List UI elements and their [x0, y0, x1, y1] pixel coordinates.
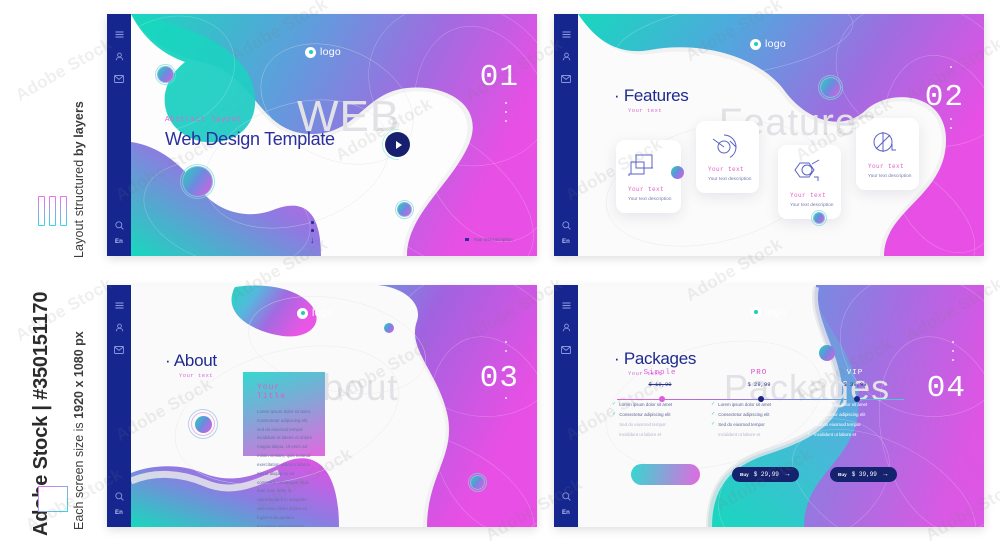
arrow-right-icon: → [682, 471, 689, 478]
hero-kicker: Abstract layout [165, 116, 335, 124]
logo[interactable]: logo [305, 46, 341, 58]
plan-pro: PRO $ 29,99 ✓Lorem ipsum dolor sit amet … [711, 369, 807, 442]
slide-number-dots-3 [505, 341, 507, 352]
check-icon: ✓ [807, 432, 811, 437]
logo-label: logo [765, 38, 786, 50]
section-header-features: · Features Your text [614, 86, 689, 114]
screen-4-packages: Packages En logo 04 · Packages Your text [554, 285, 984, 527]
gradient-ball [397, 202, 412, 217]
check-icon: ✓ [612, 402, 616, 407]
language-toggle[interactable]: En [115, 510, 123, 516]
buy-label: Buy [642, 472, 651, 477]
check-icon: ✓ [807, 412, 811, 417]
menu-icon[interactable] [562, 31, 571, 38]
screen-2-features: Features En logo 02 · Features Your text [554, 14, 984, 256]
feature-card[interactable]: Your text Your text description [856, 118, 919, 190]
plan-feature: ✓Lorem ipsum dolor sit amet [612, 402, 708, 407]
plan-simple: Simple $ 19,99 ✓Lorem ipsum dolor sit am… [612, 369, 708, 442]
menu-icon[interactable] [115, 31, 124, 38]
plan-feature-list: ✓Lorem ipsum dolor sit amet ✓Consectetur… [807, 402, 903, 437]
learn-more-label[interactable]: Learn more [419, 141, 454, 148]
language-toggle[interactable]: En [562, 239, 570, 245]
buy-label: Buy [740, 472, 749, 477]
mail-icon[interactable] [114, 346, 124, 354]
gradient-ball [819, 345, 835, 361]
slide-number-dots-4 [952, 341, 954, 361]
slide-number-dots-2 [950, 66, 952, 68]
buy-label: Buy [838, 472, 847, 477]
plan-feature: ✓Incididunt ut labore et [807, 432, 903, 437]
circle-split-icon [870, 130, 900, 163]
poster-stage: Layout structured by layers Adobe Stock … [0, 0, 1000, 544]
plan-knob-simple[interactable] [659, 396, 665, 402]
logo[interactable]: logo [297, 307, 333, 319]
buy-price: $ 9,99 [656, 471, 678, 478]
user-icon[interactable] [562, 52, 571, 61]
section-title: · About [165, 351, 217, 371]
arrow-right-icon: → [784, 471, 791, 478]
plan-feature: ✓Incididunt ut labore et [711, 432, 807, 437]
language-toggle[interactable]: En [562, 510, 570, 516]
check-icon: ✓ [807, 402, 811, 407]
plan-feature: ✓Sed do eiusmod tempor [711, 422, 807, 427]
plan-feature-list: ✓Lorem ipsum dolor sit amet ✓Consectetur… [612, 402, 708, 437]
search-icon[interactable] [115, 221, 124, 230]
screen-size-note: Each screen size is 1920 x 1080 px [72, 331, 86, 530]
slide-number-dots-1 [505, 102, 507, 122]
section-title: · Packages [614, 349, 696, 369]
plan-name: VIP [807, 369, 903, 377]
buy-button-vip[interactable]: Buy $ 39,99 → [830, 467, 897, 482]
play-icon[interactable] [385, 132, 410, 157]
screen-3-about: About En logo 03 · About Your text [107, 285, 537, 527]
feature-card-title: Your text [790, 192, 826, 199]
inscription-1: Your text inscription [465, 237, 513, 242]
screen-4-content: logo 04 · Packages Your text Simple $ 19… [554, 285, 984, 527]
learn-more-row[interactable]: Learn more [385, 132, 454, 157]
screen-2-content: logo 02 · Features Your text Your text Y… [554, 14, 984, 256]
feature-card[interactable]: Your text Your text description [778, 145, 841, 219]
logo[interactable]: logo [750, 306, 786, 318]
screen-3-content: logo 03 · About Your text Your Title Lor… [107, 285, 537, 527]
plan-name: Simple [612, 369, 708, 377]
mock-sidebar-2[interactable]: En [554, 14, 578, 256]
logo-label: logo [312, 307, 333, 319]
user-icon[interactable] [562, 323, 571, 332]
slide-number-dots-3b [505, 397, 507, 399]
info-rail: Layout structured by layers Adobe Stock … [0, 0, 104, 544]
search-icon[interactable] [562, 221, 571, 230]
logo-mark-icon [305, 47, 316, 58]
gradient-ball [157, 66, 174, 83]
slide-number-2: 02 [925, 82, 964, 113]
slide-number-4: 04 [927, 373, 966, 404]
plan-price: $ 19,99 [612, 381, 708, 388]
feature-card-desc: Your text description [628, 196, 672, 201]
about-box-body: Lorem ipsum dolor sit amet, consectetur … [257, 408, 314, 527]
menu-icon[interactable] [115, 302, 124, 309]
feature-card[interactable]: Your text Your text description [616, 140, 681, 213]
frame-icon [38, 486, 68, 512]
arrow-right-icon: → [882, 471, 889, 478]
mock-sidebar-4[interactable]: En [554, 285, 578, 527]
user-icon[interactable] [115, 52, 124, 61]
logo-label: logo [765, 306, 786, 318]
plan-price: $ 29,99 [711, 381, 807, 388]
buy-price: $ 39,99 [852, 471, 877, 478]
slide-number-dots-2b [950, 118, 952, 129]
plan-feature: ✓Consectetur adipiscing elit [711, 412, 807, 417]
language-toggle[interactable]: En [115, 239, 123, 245]
plan-feature: ✓Lorem ipsum dolor sit amet [807, 402, 903, 407]
mail-icon[interactable] [114, 75, 124, 83]
mock-sidebar-3[interactable]: En [107, 285, 131, 527]
gradient-ball [384, 323, 394, 333]
gradient-ball [820, 77, 841, 98]
feature-card-desc: Your text description [790, 202, 834, 207]
buy-price: $ 29,99 [754, 471, 779, 478]
plan-name: PRO [711, 369, 807, 377]
hexagon-icon [790, 157, 824, 190]
gradient-ball [182, 166, 213, 197]
user-icon[interactable] [115, 323, 124, 332]
plan-vip: VIP $ 39,99 ✓Lorem ipsum dolor sit amet … [807, 369, 903, 442]
plan-feature: ✓Consectetur adipiscing elit [612, 412, 708, 417]
plan-price: $ 39,99 [807, 381, 903, 388]
inscription-label: Your text inscription [474, 237, 513, 242]
gradient-ball [195, 416, 212, 433]
feature-card-title: Your text [708, 166, 744, 173]
plan-feature: ✓Incididunt ut labore et [612, 432, 708, 437]
screen-1-content: logo 01 Abstract layout Web Design Templ… [107, 14, 537, 256]
inscription-bullet-icon [465, 238, 469, 242]
feature-card-desc: Your text description [868, 173, 912, 178]
section-subtitle: Your text [628, 107, 689, 114]
windows-layers-icon [628, 154, 656, 185]
layers-note: Layout structured by layers [72, 101, 86, 258]
check-icon: ✓ [807, 422, 811, 427]
slide-number-1: 01 [480, 62, 519, 93]
screen-1-hero: WEB En logo 01 Abstract layout Web Desig… [107, 14, 537, 256]
slide-number-3: 03 [480, 363, 519, 394]
mail-icon[interactable] [561, 75, 571, 83]
check-icon: ✓ [711, 422, 715, 427]
plan-feature: ✓Lorem ipsum dolor sit amet [711, 402, 807, 407]
plan-knob-vip[interactable] [854, 396, 860, 402]
section-title: · Features [614, 86, 689, 106]
section-subtitle: Your text [179, 372, 217, 379]
check-icon: ✓ [711, 412, 715, 417]
mock-sidebar-1[interactable]: En [107, 14, 131, 256]
check-icon: ✓ [612, 412, 616, 417]
plan-feature: ✓Sed do eiusmod tempor [612, 422, 708, 427]
gradient-ball [470, 475, 485, 490]
search-icon[interactable] [115, 492, 124, 501]
feature-card-title: Your text [868, 163, 904, 170]
mail-icon[interactable] [561, 346, 571, 354]
buy-button-simple[interactable]: Buy $ 9,99 → [634, 467, 697, 482]
about-text-box: Your Title Lorem ipsum dolor sit amet, c… [243, 372, 325, 456]
logo[interactable]: logo [750, 38, 786, 50]
hero-kicker-wrap: Abstract layout Web Design Template [165, 116, 335, 150]
plan-knob-pro[interactable] [758, 396, 764, 402]
target-circle-icon [710, 133, 740, 165]
menu-icon[interactable] [562, 302, 571, 309]
logo-mark-icon [297, 308, 308, 319]
buy-button-pro[interactable]: Buy $ 29,99 → [732, 467, 799, 482]
about-box-title: Your Title [257, 383, 314, 401]
check-icon: ✓ [711, 402, 715, 407]
hero-title: Web Design Template [165, 130, 335, 150]
logo-mark-icon [750, 307, 761, 318]
logo-mark-icon [750, 39, 761, 50]
feature-card[interactable]: Your text Your text description [696, 121, 759, 193]
gradient-ball [813, 212, 825, 224]
logo-label: logo [320, 46, 341, 58]
layers-icon [38, 196, 67, 226]
feature-card-desc: Your text description [708, 176, 752, 181]
section-header-about: · About Your text [165, 351, 217, 379]
plan-feature: ✓Consectetur adipiscing elit [807, 412, 903, 417]
search-icon[interactable] [562, 492, 571, 501]
plan-feature-list: ✓Lorem ipsum dolor sit amet ✓Consectetur… [711, 402, 807, 437]
gradient-ball [671, 166, 684, 179]
scroll-indicator-1[interactable]: ↓ [310, 221, 315, 245]
feature-card-title: Your text [628, 186, 664, 193]
scroll-down-arrow-icon[interactable]: ↓ [310, 236, 315, 245]
plan-feature: ✓Sed do eiusmod tempor [807, 422, 903, 427]
